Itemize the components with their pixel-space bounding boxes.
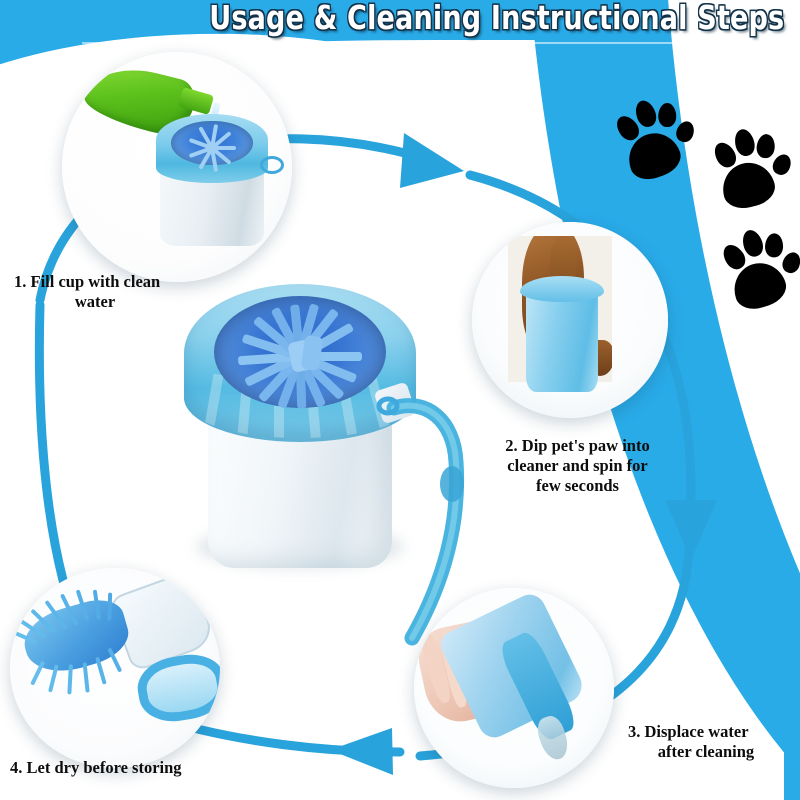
step-1-photo — [62, 52, 292, 282]
cup-rim — [520, 276, 604, 302]
caption-line: 3. Displace water — [628, 722, 798, 742]
wrist-strap — [370, 392, 510, 672]
title-banner: Usage & Cleaning Instructional Steps — [0, 0, 800, 46]
page-title: Usage & Cleaning Instructional Steps — [209, 0, 784, 37]
step-3-caption: 3. Displace water after cleaning — [628, 722, 798, 762]
step-4-photo — [10, 568, 220, 768]
step-2-photo — [472, 222, 668, 418]
dog-paw-in-cup-photo — [472, 222, 668, 418]
cup-illustration — [160, 114, 264, 246]
step-4-caption: 4. Let dry before storing — [10, 758, 270, 778]
pouring-water-photo — [62, 52, 292, 282]
caption-line: after cleaning — [628, 742, 798, 762]
infographic-page: Usage & Cleaning Instructional Steps — [0, 0, 800, 800]
caption-line: 4. Let dry before storing — [10, 758, 270, 778]
product-bristles — [214, 296, 386, 408]
bristles-group — [10, 572, 158, 700]
paw-print-icon — [707, 123, 800, 218]
strap-loop — [260, 156, 284, 174]
title-underline — [82, 42, 782, 44]
disassembled-parts-photo — [10, 568, 220, 768]
